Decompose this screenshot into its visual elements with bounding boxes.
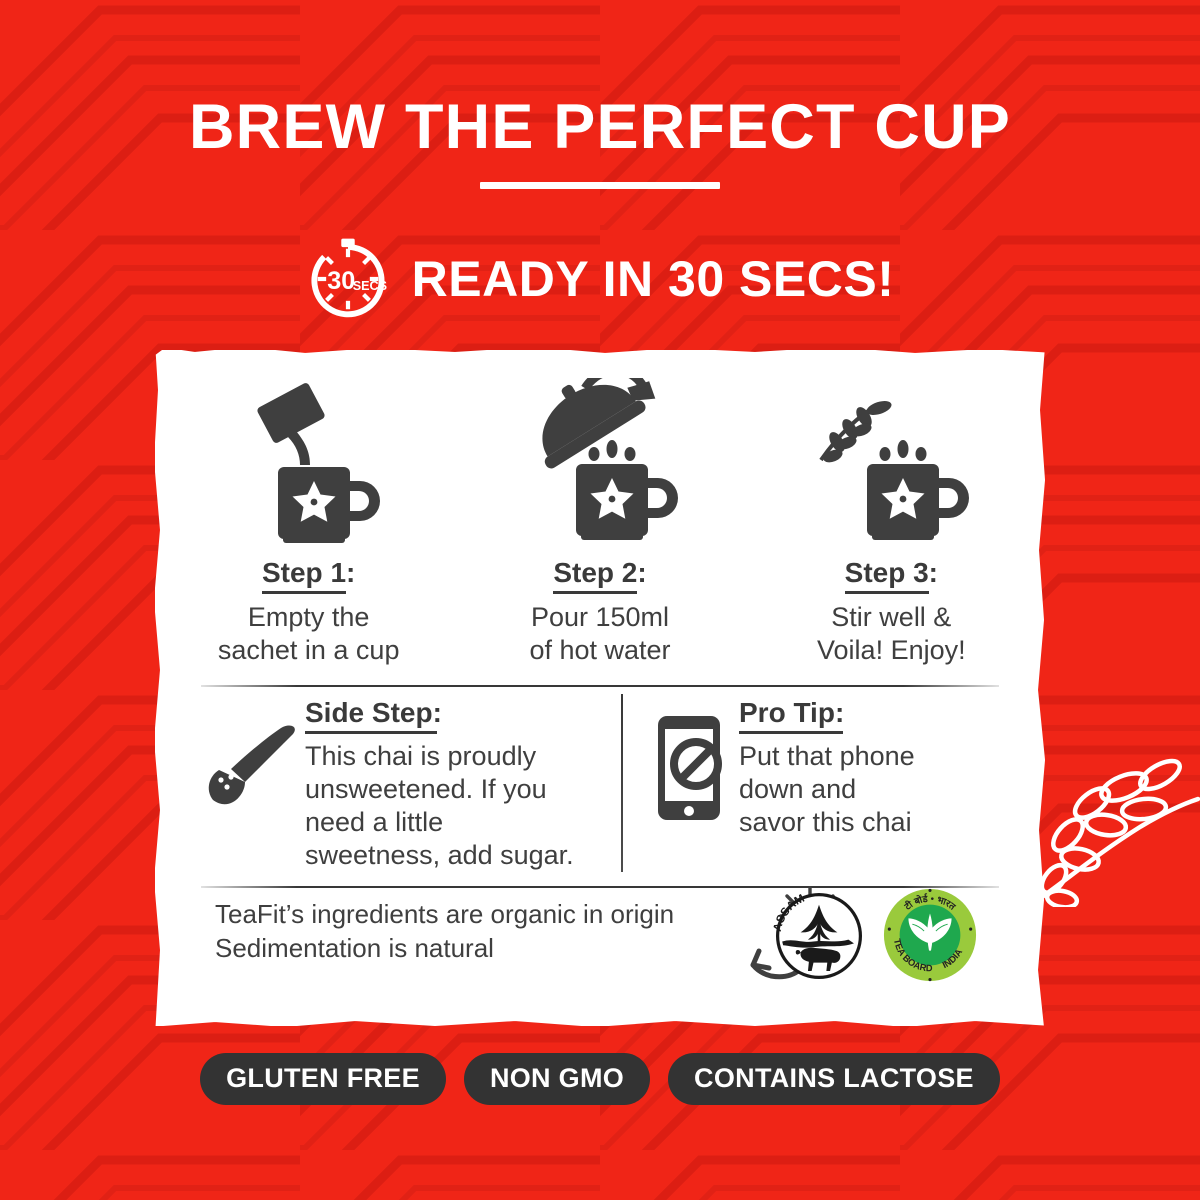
divider-horizontal-top	[201, 685, 999, 687]
tea-board-india-badge: टी बोर्ड • भारत TEA BOARD INDIA	[881, 886, 979, 984]
step-item: Step 3: Stir well & Voila! Enjoy!	[746, 376, 1037, 688]
claim-badges-row: GLUTEN FREE NON GMO CONTAINS LACTOSE	[0, 1053, 1200, 1105]
pro-tip-desc-line1: Put that phone	[739, 740, 915, 773]
step-2-colon: :	[637, 557, 646, 588]
side-step-icon-wrap	[201, 698, 305, 848]
page-title: BREW THE PERFECT CUP	[0, 96, 1200, 159]
pro-tip-heading: Pro Tip:	[739, 698, 844, 734]
step-1-heading: Step 1:	[262, 558, 355, 594]
side-step-description: This chai is proudly unsweetened. If you…	[305, 740, 574, 872]
step-1-description: Empty the sachet in a cup	[218, 601, 400, 667]
tips-row: Side Step: This chai is proudly unsweete…	[163, 698, 1037, 883]
step-1-icon-wrap	[234, 376, 384, 546]
step-1-label: Step 1	[262, 557, 346, 588]
side-step-label: Side Step	[305, 697, 433, 728]
steps-row: Step 1: Empty the sachet in a cup	[163, 376, 1037, 688]
pro-tip-description: Put that phone down and savor this chai	[739, 740, 915, 839]
step-3-heading: Step 3:	[845, 558, 938, 594]
botanical-sprig-decoration	[1040, 757, 1200, 907]
pro-tip-colon: :	[835, 697, 844, 728]
step-2-icon-wrap	[516, 376, 684, 546]
step-1-desc-line2: sachet in a cup	[218, 634, 400, 667]
subtitle-row: 30 SECS READY IN 30 SECS!	[0, 243, 1200, 315]
side-step-desc-line3: need a little	[305, 806, 574, 839]
step-3-colon: :	[929, 557, 938, 588]
tip-item-pro-tip: Pro Tip: Put that phone down and savor t…	[643, 698, 1019, 839]
step-item: Step 2: Pour 150ml of hot water	[454, 376, 745, 688]
side-step-underline	[305, 731, 437, 734]
side-step-desc-line2: unsweetened. If you	[305, 773, 574, 806]
phone-no-entry-icon	[654, 712, 728, 824]
step-3-icon-wrap	[811, 376, 971, 546]
ingredients-note-line1: TeaFit’s ingredients are organic in orig…	[215, 898, 775, 932]
step-item: Step 1: Empty the sachet in a cup	[163, 376, 454, 688]
step-2-heading: Step 2:	[553, 558, 646, 594]
certification-badges: ASSAM ASSAM	[773, 886, 1023, 986]
step-1-underline	[262, 591, 346, 594]
step-3-description: Stir well & Voila! Enjoy!	[817, 601, 966, 667]
step-3-desc-line1: Stir well &	[817, 601, 966, 634]
spoon-with-sugar-icon	[205, 718, 301, 828]
step-1-desc-line1: Empty the	[218, 601, 400, 634]
claim-badge-contains-lactose: CONTAINS LACTOSE	[668, 1053, 1000, 1105]
tip-item-side-step: Side Step: This chai is proudly unsweete…	[201, 698, 619, 872]
step-2-desc-line1: Pour 150ml	[529, 601, 670, 634]
claim-badge-non-gmo: NON GMO	[464, 1053, 650, 1105]
claim-badge-gluten-free: GLUTEN FREE	[200, 1053, 446, 1105]
step-2-desc-line2: of hot water	[529, 634, 670, 667]
pro-tip-icon-wrap	[643, 698, 739, 838]
step-2-label: Step 2	[553, 557, 637, 588]
step-2-description: Pour 150ml of hot water	[529, 601, 670, 667]
stopwatch-unit: SECS	[352, 279, 386, 293]
pro-tip-body: Pro Tip: Put that phone down and savor t…	[739, 698, 915, 839]
side-step-colon: :	[433, 697, 442, 728]
stopwatch-value: 30	[327, 267, 355, 295]
step-1-colon: :	[346, 557, 355, 588]
step-2-underline	[553, 591, 637, 594]
side-step-desc-line4: sweetness, add sugar.	[305, 839, 574, 872]
kettle-pouring-into-mug-icon	[516, 378, 684, 546]
subtitle-text: READY IN 30 SECS!	[412, 254, 895, 304]
title-underline-rule	[480, 182, 720, 189]
pro-tip-label: Pro Tip	[739, 697, 835, 728]
stopwatch-icon: 30 SECS	[306, 237, 390, 321]
assam-tea-badge: ASSAM ASSAM	[773, 890, 865, 982]
step-3-label: Step 3	[845, 557, 929, 588]
pro-tip-desc-line3: savor this chai	[739, 806, 915, 839]
side-step-desc-line1: This chai is proudly	[305, 740, 574, 773]
sachet-pouring-into-mug-icon	[234, 381, 384, 546]
step-3-underline	[845, 591, 929, 594]
side-step-heading: Side Step:	[305, 698, 442, 734]
ingredients-note-line2: Sedimentation is natural	[215, 932, 775, 966]
ingredients-note: TeaFit’s ingredients are organic in orig…	[215, 898, 775, 966]
pro-tip-underline	[739, 731, 843, 734]
side-step-body: Side Step: This chai is proudly unsweete…	[305, 698, 574, 872]
step-3-desc-line2: Voila! Enjoy!	[817, 634, 966, 667]
steaming-mug-with-sprig-icon	[811, 378, 971, 546]
poster-canvas: BREW THE PERFECT CUP 30 SECS READY IN 30…	[0, 0, 1200, 1200]
pro-tip-desc-line2: down and	[739, 773, 915, 806]
instruction-card: Step 1: Empty the sachet in a cup	[163, 358, 1037, 1018]
